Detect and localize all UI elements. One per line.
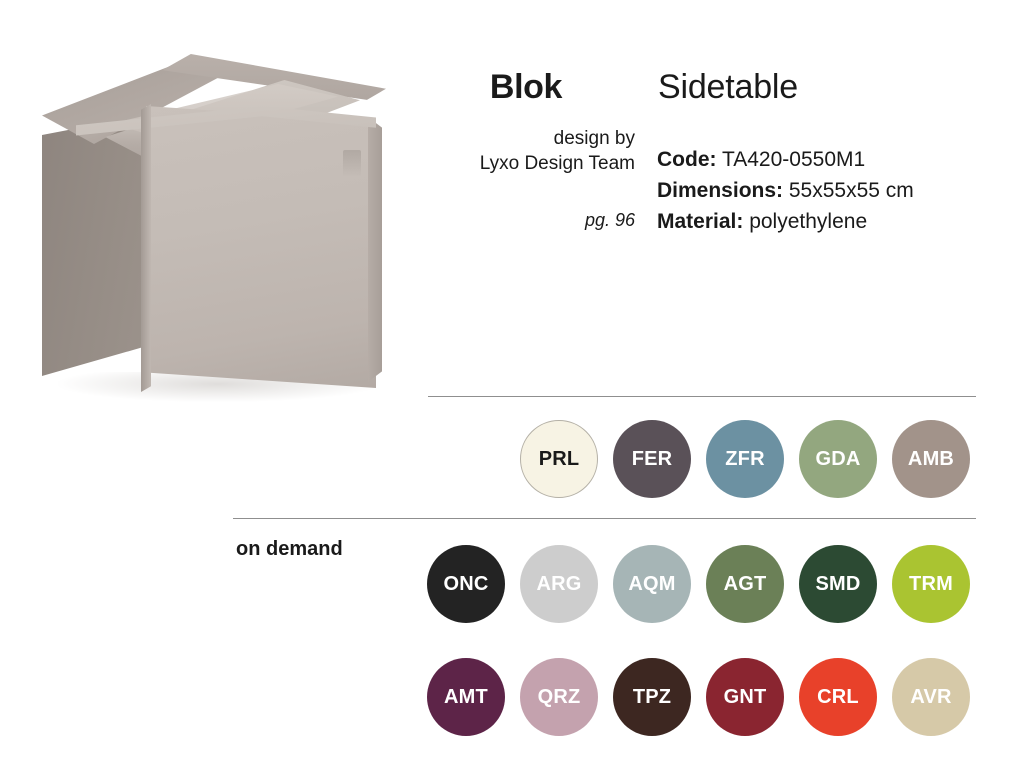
spec-code-label: Code: xyxy=(657,148,717,171)
standard-color-row: PRLFERZFRGDAAMB xyxy=(520,420,970,498)
color-swatch-label: GNT xyxy=(724,686,767,709)
spec-dimensions: Dimensions: 55x55x55 cm xyxy=(657,175,914,206)
product-specs: Code: TA420-0550M1 Dimensions: 55x55x55 … xyxy=(657,144,914,237)
color-swatch-label: CRL xyxy=(817,686,859,709)
spec-dimensions-label: Dimensions: xyxy=(657,179,783,202)
color-swatch-gda[interactable]: GDA xyxy=(799,420,877,498)
cube-surface-detail xyxy=(343,150,361,176)
color-swatch-agt[interactable]: AGT xyxy=(706,545,784,623)
color-swatch-amt[interactable]: AMT xyxy=(427,658,505,736)
color-swatch-trm[interactable]: TRM xyxy=(892,545,970,623)
color-swatch-qrz[interactable]: QRZ xyxy=(520,658,598,736)
color-swatch-label: QRZ xyxy=(538,686,581,709)
cube-front-corner xyxy=(141,104,151,392)
color-swatch-zfr[interactable]: ZFR xyxy=(706,420,784,498)
spec-material: Material: polyethylene xyxy=(657,206,914,237)
color-swatch-tpz[interactable]: TPZ xyxy=(613,658,691,736)
page-reference: pg. 96 xyxy=(360,210,635,231)
blok-cube-illustration xyxy=(28,32,398,392)
product-title-row: Blok Sidetable xyxy=(420,68,980,120)
color-swatch-label: TRM xyxy=(909,573,953,596)
color-swatch-smd[interactable]: SMD xyxy=(799,545,877,623)
spec-code: Code: TA420-0550M1 xyxy=(657,144,914,175)
spec-material-value: polyethylene xyxy=(749,210,867,233)
color-swatch-label: PRL xyxy=(539,448,580,471)
color-swatch-aqm[interactable]: AQM xyxy=(613,545,691,623)
color-swatch-gnt[interactable]: GNT xyxy=(706,658,784,736)
product-category: Sidetable xyxy=(658,68,798,107)
product-name: Blok xyxy=(490,68,562,107)
spec-material-label: Material: xyxy=(657,210,743,233)
color-swatch-fer[interactable]: FER xyxy=(613,420,691,498)
color-swatch-avr[interactable]: AVR xyxy=(892,658,970,736)
color-swatch-label: GDA xyxy=(815,448,860,471)
color-swatch-amb[interactable]: AMB xyxy=(892,420,970,498)
color-swatch-label: ONC xyxy=(443,573,488,596)
cube-front-face xyxy=(146,106,376,388)
divider-above-standard-colors xyxy=(428,396,976,397)
design-studio-name: Lyxo Design Team xyxy=(360,151,635,176)
color-swatch-crl[interactable]: CRL xyxy=(799,658,877,736)
color-swatch-onc[interactable]: ONC xyxy=(427,545,505,623)
color-swatch-label: AVR xyxy=(910,686,951,709)
on-demand-color-row-1: ONCARGAQMAGTSMDTRM xyxy=(427,545,970,623)
color-swatch-label: ZFR xyxy=(725,448,764,471)
color-swatch-label: AMT xyxy=(444,686,488,709)
color-swatch-label: ARG xyxy=(536,573,581,596)
spec-dimensions-value: 55x55x55 cm xyxy=(789,179,914,202)
spec-code-value: TA420-0550M1 xyxy=(722,148,865,171)
on-demand-color-row-2: AMTQRZTPZGNTCRLAVR xyxy=(427,658,970,736)
color-swatch-label: TPZ xyxy=(633,686,671,709)
product-image xyxy=(0,0,425,410)
color-swatch-label: AGT xyxy=(724,573,767,596)
color-swatch-prl[interactable]: PRL xyxy=(520,420,598,498)
design-by-label: design by xyxy=(360,126,635,151)
divider-above-on-demand-colors xyxy=(233,518,976,519)
color-swatch-label: AQM xyxy=(628,573,675,596)
on-demand-label: on demand xyxy=(236,538,343,561)
design-credit: design by Lyxo Design Team xyxy=(360,126,635,176)
color-swatch-label: FER xyxy=(632,448,673,471)
cube-left-face xyxy=(42,114,152,376)
color-swatch-label: AMB xyxy=(908,448,954,471)
color-swatch-label: SMD xyxy=(815,573,860,596)
color-swatch-arg[interactable]: ARG xyxy=(520,545,598,623)
